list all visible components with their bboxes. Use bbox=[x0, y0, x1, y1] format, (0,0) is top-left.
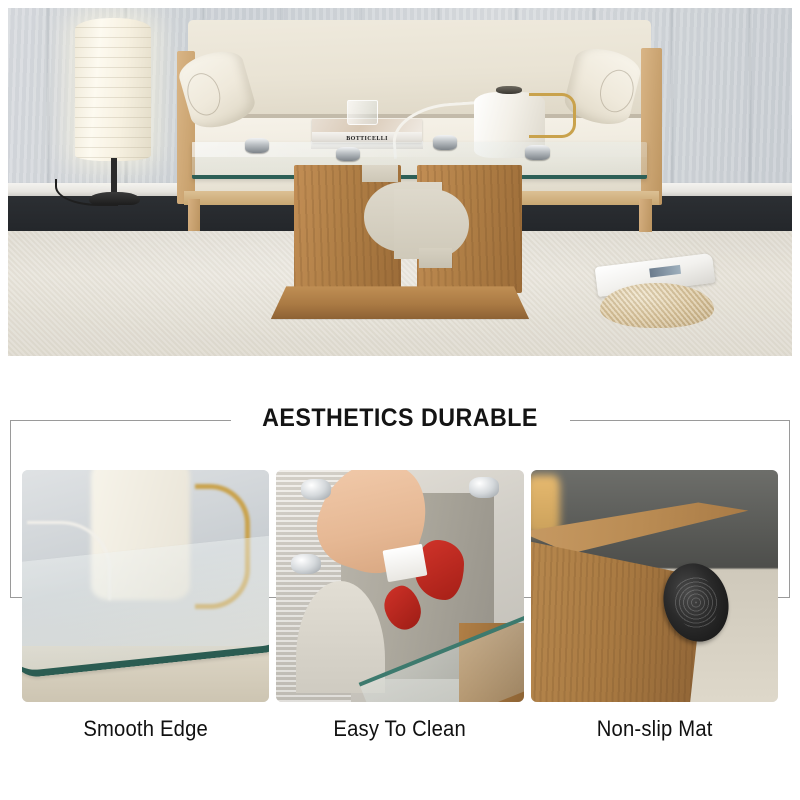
base-notch-right bbox=[419, 248, 452, 267]
feature-image-easy-to-clean[interactable] bbox=[276, 470, 523, 702]
table-base-plinth bbox=[271, 286, 530, 319]
feature-image-non-slip-mat[interactable] bbox=[531, 470, 778, 702]
product-feature-page: BOTTICELLI AESTHETICS DURABLE bbox=[0, 0, 800, 800]
kettle-cap bbox=[496, 86, 523, 94]
section-title: AESTHETICS DURABLE bbox=[28, 404, 772, 433]
glass-standoff bbox=[525, 145, 549, 160]
glass-standoff bbox=[433, 135, 457, 150]
feature-image-smooth-edge[interactable] bbox=[22, 470, 269, 702]
hero-product-photo: BOTTICELLI bbox=[8, 8, 792, 356]
pouf-knit-texture bbox=[600, 283, 714, 328]
knitted-pouf bbox=[600, 283, 714, 328]
glass-standoff bbox=[245, 138, 269, 153]
lamp-ribs bbox=[75, 18, 150, 161]
base-notch-left bbox=[362, 165, 398, 182]
feature-caption-row: Smooth Edge Easy To Clean Non-slip Mat bbox=[22, 716, 778, 742]
hero-scene: BOTTICELLI bbox=[8, 8, 792, 356]
thumb2-standoff bbox=[469, 477, 499, 498]
caption-easy-to-clean: Easy To Clean bbox=[286, 716, 514, 742]
glass-standoff bbox=[336, 147, 360, 162]
floor-lamp-shade bbox=[75, 18, 150, 161]
feature-thumbnail-row bbox=[22, 470, 778, 702]
thumb3-blurred-leg bbox=[531, 475, 561, 535]
kettle-brass-handle bbox=[529, 93, 576, 138]
thumb2-standoff bbox=[291, 554, 321, 575]
sofa-leg-left bbox=[188, 199, 200, 230]
thumb2-standoff bbox=[301, 479, 331, 500]
glass-tumbler bbox=[347, 100, 378, 124]
caption-smooth-edge: Smooth Edge bbox=[32, 716, 260, 742]
sofa-frame-right bbox=[641, 48, 661, 205]
sofa-leg-right bbox=[639, 199, 652, 232]
thumb2-cleaning-cloth bbox=[383, 543, 428, 582]
caption-non-slip-mat: Non-slip Mat bbox=[541, 716, 769, 742]
